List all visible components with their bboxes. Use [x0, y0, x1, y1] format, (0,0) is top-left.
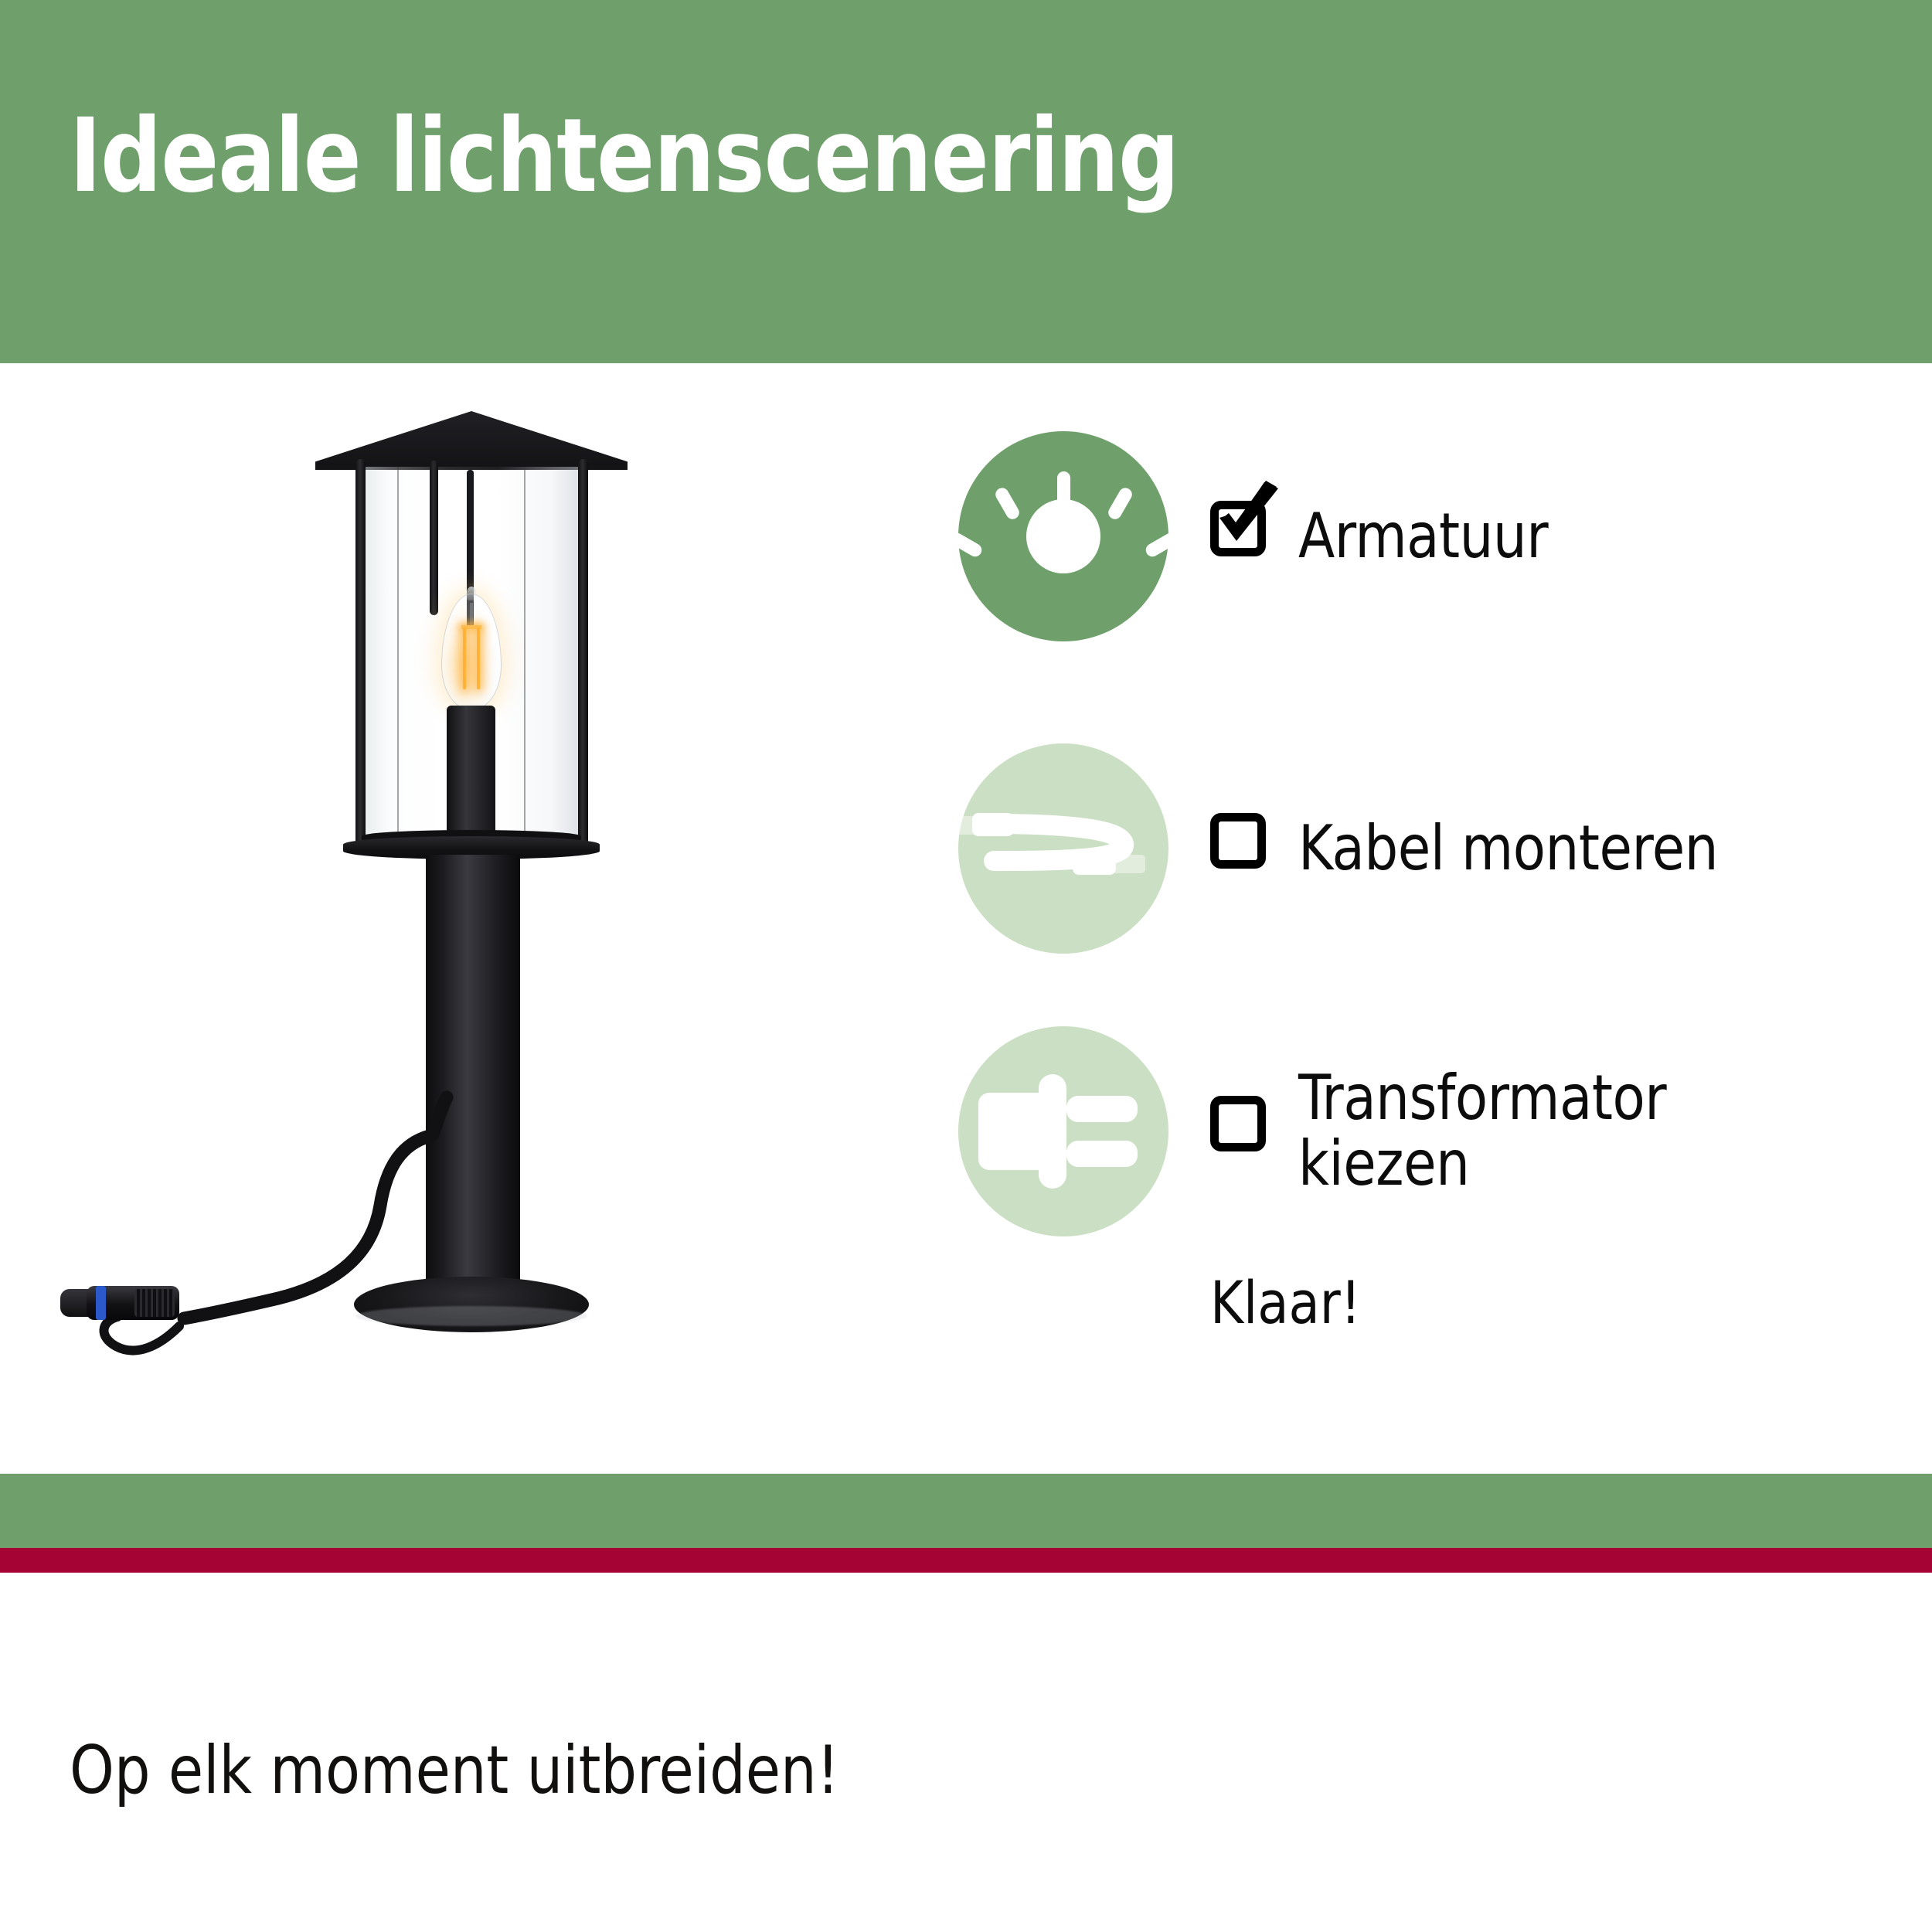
lamp-post-mid	[430, 461, 438, 615]
checklist-label-armatuur: Armatuur	[1298, 503, 1548, 570]
glass-seam-left	[397, 467, 399, 838]
lamp-post-left	[355, 459, 366, 850]
checklist-done-text: Klaar!	[1210, 1274, 1361, 1332]
checkbox-kabel[interactable]	[1210, 813, 1281, 884]
sun-icon	[958, 431, 1168, 641]
connector-blue-ring	[96, 1286, 106, 1320]
lamp-base-shadow	[355, 1306, 587, 1326]
sun-core	[1026, 499, 1100, 573]
checkbox-outline	[1210, 1096, 1266, 1151]
checklist-item-armatuur[interactable]: Armatuur	[958, 431, 1932, 641]
lamp-pole	[426, 855, 520, 1295]
sun-ray	[1143, 644, 1179, 672]
glass-seam-right	[524, 467, 526, 838]
footer-text: Op elk moment uitbreiden!	[70, 1737, 839, 1804]
checklist-label-line2: kiezen	[1298, 1131, 1666, 1197]
checkmark-icon	[1209, 481, 1283, 555]
plug-glyph	[958, 1026, 1168, 1236]
bollard-lamp-graphic	[332, 410, 611, 1329]
checklist-label-transformator: Transformator kiezen	[1298, 1066, 1666, 1197]
footer-green-band	[0, 1474, 1932, 1548]
page-title: Ideale lichtenscenering	[70, 105, 1179, 207]
bulb-tip	[467, 587, 476, 600]
sun-ray	[1057, 471, 1070, 505]
sun-ray	[1106, 681, 1134, 717]
filament-bulb	[441, 594, 502, 709]
checklist-label-kabel: Kabel monteren	[1298, 815, 1718, 882]
sun-ray	[947, 644, 984, 672]
cable-icon	[958, 743, 1168, 954]
filament-right	[477, 628, 480, 689]
checkbox-outline	[1210, 813, 1266, 869]
checklist-item-kabel[interactable]: Kabel monteren	[958, 743, 1932, 954]
checklist-item-transformator[interactable]: Transformator kiezen	[958, 1026, 1932, 1236]
checklist-label-line1: Transformator	[1298, 1066, 1666, 1131]
plug-icon	[958, 1026, 1168, 1236]
sun-ray	[1106, 485, 1134, 522]
sun-ray	[1143, 531, 1179, 560]
lamp-socket	[447, 706, 495, 849]
cable-connector	[60, 1283, 184, 1325]
product-image	[0, 363, 943, 1474]
installation-checklist: Armatuur Kabel monteren	[958, 363, 1932, 1474]
filament-left	[463, 628, 466, 689]
sun-ray	[934, 595, 968, 608]
checkbox-armatuur[interactable]	[1210, 501, 1281, 572]
sun-ray	[1057, 697, 1070, 731]
connector-grip-ribs	[134, 1289, 175, 1317]
checkbox-transformator[interactable]	[1210, 1096, 1281, 1167]
sun-ray	[993, 485, 1022, 522]
sun-ray	[1159, 595, 1193, 608]
footer-red-band	[0, 1548, 1932, 1573]
sun-ray	[947, 531, 984, 560]
cable-glyph	[958, 743, 1168, 954]
lamp-post-right	[578, 459, 588, 850]
sun-ray	[993, 681, 1022, 717]
